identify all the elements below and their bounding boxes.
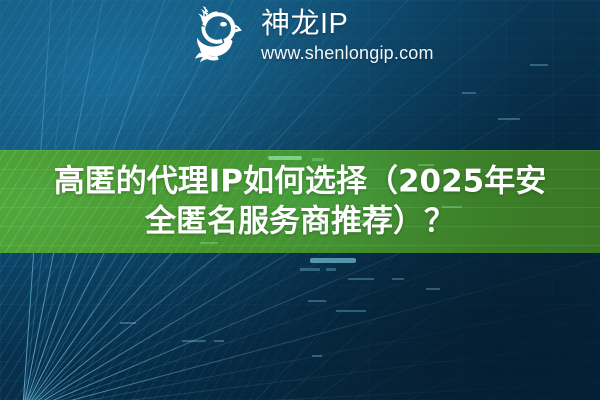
tech-blip	[498, 118, 520, 120]
tech-blip	[348, 278, 374, 280]
tech-blip	[182, 340, 206, 342]
brand-name: 神龙IP	[261, 9, 434, 39]
tech-blip	[310, 258, 356, 263]
page-title: 高匿的代理IP如何选择（2025年安 全匿名服务商推荐）？	[0, 161, 600, 242]
tech-blip	[392, 278, 404, 280]
tech-blip	[200, 242, 218, 244]
tech-blip	[214, 340, 224, 342]
tech-blip	[120, 322, 136, 324]
brand-logo[interactable]: 神龙IP www.shenlongip.com	[188, 4, 434, 70]
tech-blip	[326, 268, 336, 271]
tech-blip	[268, 156, 302, 160]
tech-blip	[530, 64, 548, 66]
title-band: 高匿的代理IP如何选择（2025年安 全匿名服务商推荐）？	[0, 150, 600, 253]
tech-blip	[312, 355, 322, 357]
tech-blip	[462, 92, 476, 94]
brand-url: www.shenlongip.com	[261, 42, 434, 65]
tech-blip	[300, 268, 320, 271]
tech-blip	[426, 288, 440, 290]
promo-banner: 神龙IP www.shenlongip.com 高匿的代理IP如何选择（2025…	[0, 0, 600, 400]
dragon-head-logo-icon	[188, 4, 252, 70]
tech-blip	[308, 300, 326, 302]
tech-blip	[336, 310, 366, 312]
brand-logo-text: 神龙IP www.shenlongip.com	[261, 9, 434, 65]
